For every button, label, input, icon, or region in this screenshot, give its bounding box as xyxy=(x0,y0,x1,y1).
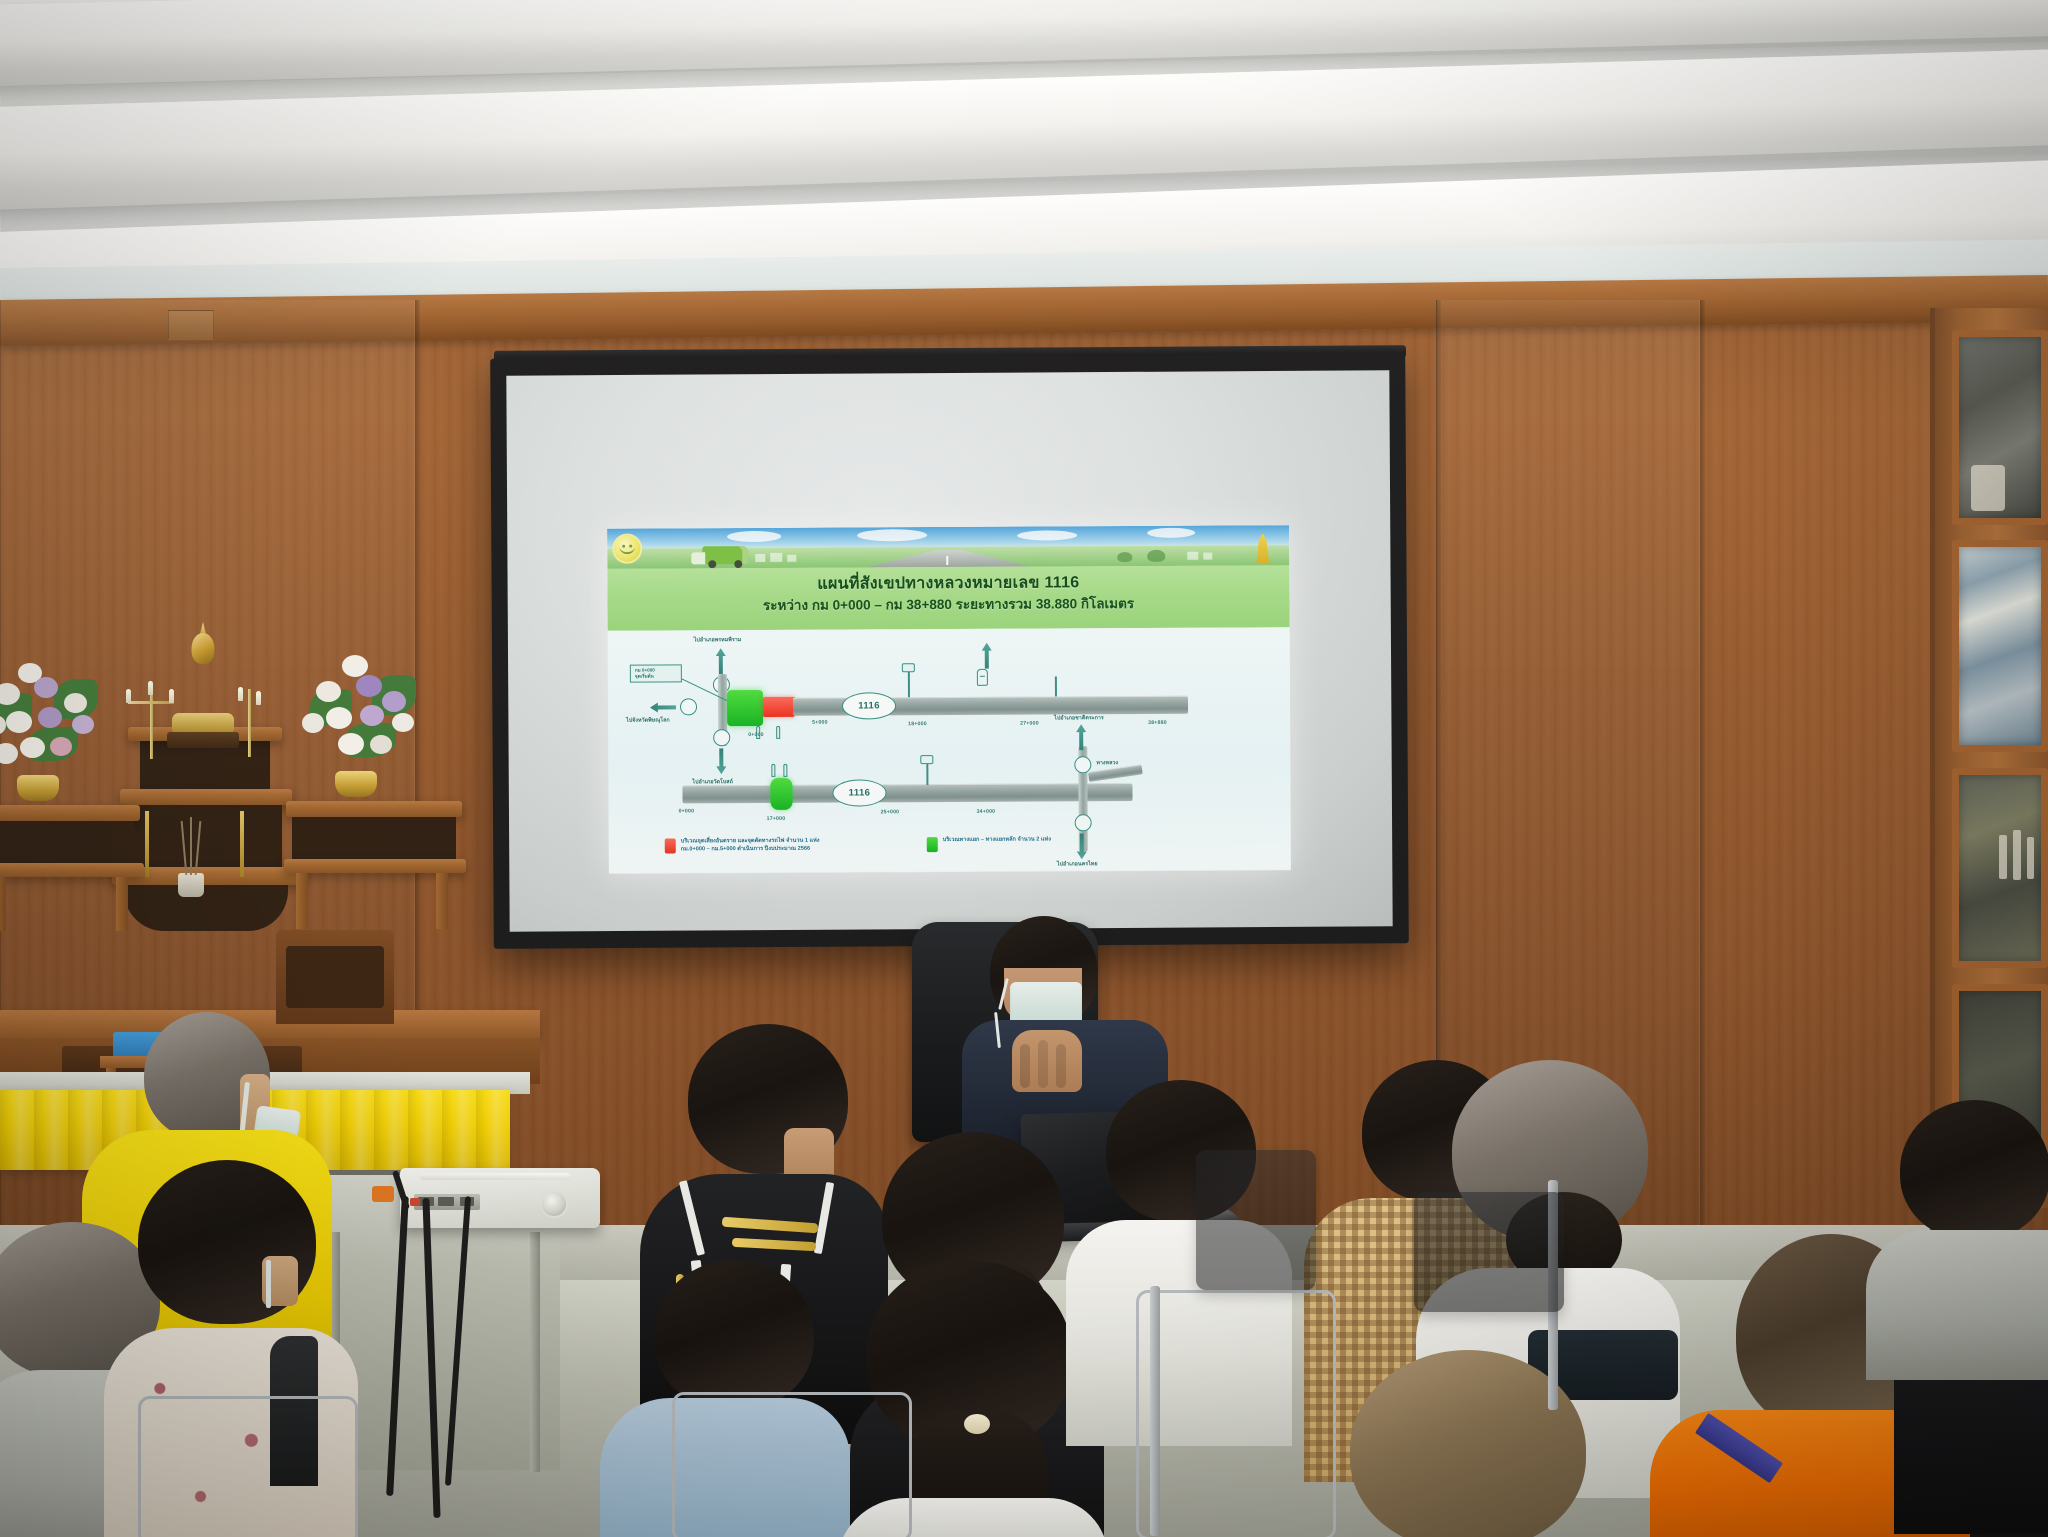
place-label-up: ไปอำเภอพรหมพิราม xyxy=(694,636,742,644)
sign-post xyxy=(908,669,910,697)
table-leg xyxy=(530,1232,540,1472)
legend-label-red: บริเวณจุดเสี่ยงอันตราย และจุดตัดทางรถไฟ … xyxy=(681,837,820,855)
truck-cab xyxy=(692,552,706,564)
wall-seam xyxy=(1700,300,1705,1280)
smiling-sun-logo-icon xyxy=(612,534,642,564)
building-icon xyxy=(770,553,782,562)
milestone-marker xyxy=(783,764,787,777)
road-segment-red xyxy=(763,697,795,717)
km-label: 27+000 xyxy=(1020,721,1039,727)
place-label-up-lower: ไปอำเภอชาติตระการ xyxy=(1054,714,1104,722)
km-label: 0+000 xyxy=(748,732,764,738)
candelabra-stem xyxy=(248,689,251,757)
side-table-left-top xyxy=(0,805,140,821)
finger-gap xyxy=(1020,1044,1030,1088)
km-label: 38+880 xyxy=(1148,720,1167,726)
flower-arrangement-right xyxy=(296,647,446,797)
milestone-marker xyxy=(776,726,780,739)
place-label-left: ไปจังหวัดพิษณุโลก xyxy=(626,716,670,724)
slide-banner xyxy=(607,525,1289,569)
table-leg xyxy=(436,873,448,929)
cabinet-glass-pane xyxy=(1952,768,2048,968)
chair-rim xyxy=(1136,1290,1336,1537)
chair-rim xyxy=(138,1396,358,1537)
chair xyxy=(1196,1150,1316,1290)
candle xyxy=(169,689,174,703)
flower-white xyxy=(370,735,392,754)
chair-rim xyxy=(672,1392,912,1537)
place-label-right: ทางหลวง xyxy=(1096,759,1118,767)
hair-tie xyxy=(964,1414,990,1434)
meeting-room-photo: แผนที่สังเขปทางหลวงหมายเลข 1116 ระหว่าง … xyxy=(0,0,2048,1537)
building-icon xyxy=(1187,552,1198,560)
candelabra-stem xyxy=(150,685,153,759)
buddha-shrine xyxy=(0,615,470,1035)
km-label: 5+000 xyxy=(812,720,828,726)
projector-lens-icon xyxy=(540,1190,568,1218)
flower-white xyxy=(0,743,18,764)
incense-holder xyxy=(178,873,204,897)
candle xyxy=(256,691,261,705)
slide-subtitle: ระหว่าง กม 0+000 – กม 38+880 ระยะทางรวม … xyxy=(617,594,1279,616)
cabinet-item xyxy=(1999,835,2007,879)
flower-purple xyxy=(360,705,384,726)
gold-candle-stand xyxy=(145,811,149,877)
gold-vase xyxy=(17,775,59,801)
buddha-pedestal xyxy=(167,732,239,748)
slide-title: แผนที่สังเขปทางหลวงหมายเลข 1116 xyxy=(617,571,1279,596)
junction-node xyxy=(1075,814,1092,831)
junction-node xyxy=(680,698,697,715)
display-cabinet xyxy=(1930,308,2048,1208)
flower-white xyxy=(392,713,414,732)
junction-node xyxy=(1074,756,1091,773)
direction-arrow-down xyxy=(716,748,726,774)
sign-head xyxy=(902,663,915,672)
green-truck-icon xyxy=(703,546,749,564)
flower-purple xyxy=(38,707,62,728)
legend-label-green: บริเวณทางแยก – ทางแยกหลัก จำนวน 2 แห่ง xyxy=(943,835,1051,844)
place-label-down-lower: ไปอำเภอนครไทย xyxy=(1057,860,1098,868)
projector-top xyxy=(420,1173,570,1180)
side-table-left-dark xyxy=(0,821,134,865)
power-plug xyxy=(372,1186,394,1202)
flower-purple xyxy=(382,691,406,712)
km-label: 34+000 xyxy=(977,809,996,815)
milestone-marker xyxy=(771,764,775,777)
sign-post xyxy=(926,761,928,785)
flower-purple xyxy=(356,675,382,697)
gold-candle-stand xyxy=(240,811,244,877)
flower-white xyxy=(342,655,368,677)
road-segment-green-lower xyxy=(770,778,792,810)
buddha-body xyxy=(179,660,227,720)
logo-smile xyxy=(619,545,635,554)
flower-pink xyxy=(50,737,72,756)
candle xyxy=(238,687,243,701)
legend-item-green: บริเวณทางแยก – ทางแยกหลัก จำนวน 2 แห่ง xyxy=(927,835,1157,852)
projected-slide: แผนที่สังเขปทางหลวงหมายเลข 1116 ระหว่าง … xyxy=(607,525,1291,874)
slide-title-block: แผนที่สังเขปทางหลวงหมายเลข 1116 ระหว่าง … xyxy=(607,565,1289,631)
direction-arrow-up xyxy=(716,648,726,674)
road-segment-green xyxy=(727,690,763,726)
legend-swatch-green xyxy=(927,837,938,852)
side-table-left-rail xyxy=(0,863,144,877)
route-number-badge-lower: 1116 xyxy=(832,779,886,806)
direction-arrow-left xyxy=(650,702,676,712)
cabinet-glass-pane xyxy=(1952,330,2048,525)
flower-white xyxy=(302,713,324,733)
tree-icon xyxy=(1147,550,1165,562)
incense-stick xyxy=(190,817,192,875)
slide-diagram: ไปอำเภอพรหมพิราม ไปอำเภอวัดโบสถ์ ไปจังหว… xyxy=(608,627,1291,873)
building-icon xyxy=(755,554,765,562)
flower-white xyxy=(6,711,32,733)
flower-arrangement-left xyxy=(0,653,126,803)
side-table-right-rail xyxy=(284,859,466,873)
flower-white xyxy=(338,733,364,755)
tree-icon xyxy=(1117,552,1132,562)
table-leg xyxy=(116,877,128,931)
km-label: 25+000 xyxy=(881,809,900,815)
head xyxy=(1900,1100,2048,1240)
cabinet-item xyxy=(2027,837,2034,879)
legend-item-red: บริเวณจุดเสี่ยงอันตราย และจุดตัดทางรถไฟ … xyxy=(665,836,925,854)
road-dash xyxy=(947,556,949,565)
sign-head xyxy=(920,755,933,764)
chair xyxy=(1414,1192,1564,1312)
audience-far-right-light xyxy=(1880,1100,2048,1360)
km-label: 0+000 xyxy=(679,808,695,814)
side-table-right-top xyxy=(286,801,462,817)
sign-post xyxy=(1055,676,1057,696)
legend-swatch-red xyxy=(665,838,676,853)
chair-frame xyxy=(1150,1286,1160,1536)
gold-vase xyxy=(335,771,377,797)
side-table-right-dark xyxy=(292,817,456,861)
mask-strap xyxy=(266,1260,271,1308)
shrine-altar-mid xyxy=(120,789,292,805)
flower-white xyxy=(326,707,352,729)
projector-port xyxy=(438,1197,454,1206)
flower-purple xyxy=(34,677,58,698)
cabinet-item xyxy=(1971,465,2005,511)
flower-white xyxy=(316,681,341,702)
cabinet-item xyxy=(2013,830,2021,880)
cabinet-glass-pane xyxy=(1952,540,2048,752)
candle xyxy=(126,689,131,703)
chair-back-inset xyxy=(286,946,384,1008)
finger-gap xyxy=(1038,1040,1048,1088)
landmark-icon xyxy=(977,669,988,686)
flower-white xyxy=(64,693,87,713)
route-number-badge: 1116 xyxy=(842,692,896,719)
head xyxy=(654,1260,814,1410)
table-leg xyxy=(0,877,6,931)
audience-lightbrown-hair xyxy=(1330,1350,1630,1537)
junction-node xyxy=(713,729,730,746)
flower-purple xyxy=(72,715,94,734)
projector-indicator xyxy=(410,1198,420,1206)
golden-buddha-statue xyxy=(172,633,234,761)
flower-white xyxy=(20,737,45,758)
candelabra-arm xyxy=(128,701,174,704)
torso xyxy=(1866,1230,2048,1380)
shrine-apron xyxy=(124,885,288,931)
table-leg xyxy=(296,873,308,929)
shrine-tier-dark xyxy=(132,805,282,871)
building-icon xyxy=(787,555,796,562)
candle xyxy=(148,681,153,695)
callout-start-km: กม 0+000 จุดเริ่มต้น xyxy=(630,664,682,683)
km-label: 17+000 xyxy=(767,816,786,822)
road-main-line-lower xyxy=(682,783,1132,803)
km-label: 18+000 xyxy=(908,721,927,727)
direction-arrow-up xyxy=(982,643,992,669)
building-icon xyxy=(1203,553,1212,560)
